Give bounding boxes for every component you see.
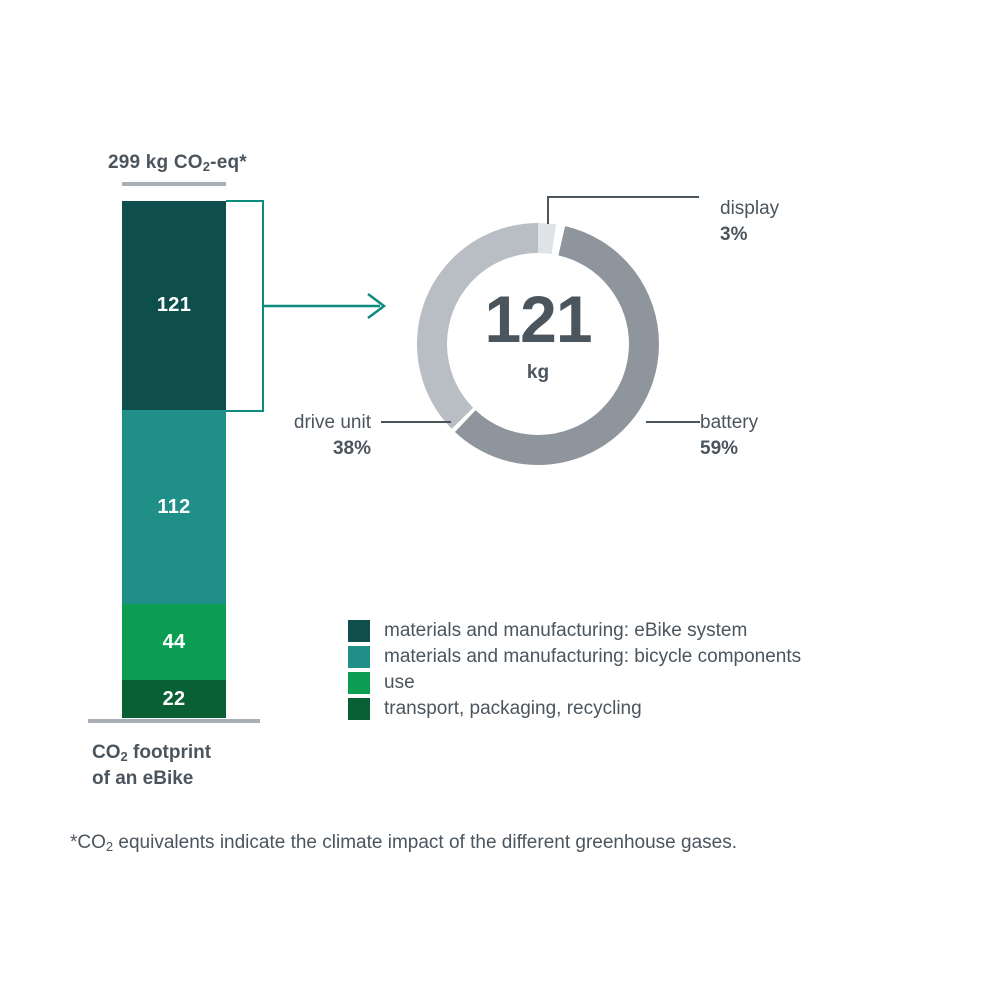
footnote: *CO2 equivalents indicate the climate im…	[70, 832, 737, 854]
bar-segment-value: 121	[157, 294, 191, 317]
callout-drive-unit: drive unit 38%	[150, 410, 371, 462]
bar-caption-line2: of an eBike	[92, 768, 193, 789]
footnote-subscript: 2	[106, 839, 113, 854]
callout-battery: battery 59%	[700, 410, 758, 462]
bar-segment-value: 22	[163, 688, 186, 711]
callout-drive-unit-name: drive unit	[150, 410, 371, 436]
bar-segment-ebike-system: 121	[122, 201, 226, 410]
legend-swatch-icon	[348, 698, 370, 720]
bar-caption: CO2 footprint of an eBike	[92, 740, 211, 791]
legend-item-bicycle-components: materials and manufacturing: bicycle com…	[348, 644, 801, 670]
callout-leader-display-vertical	[547, 196, 549, 224]
footnote-prefix: *CO	[70, 832, 106, 853]
donut-center-value: 121	[412, 283, 664, 355]
bar-caption-suffix: footprint	[128, 742, 211, 763]
legend-item-ebike-system: materials and manufacturing: eBike syste…	[348, 618, 801, 644]
callout-leader-display-horizontal	[547, 196, 699, 198]
callout-drive-unit-percent: 38%	[150, 436, 371, 462]
legend-item-transport-packaging-recycling: transport, packaging, recycling	[348, 696, 801, 722]
legend: materials and manufacturing: eBike syste…	[348, 618, 801, 722]
callout-display-percent: 3%	[720, 222, 779, 248]
bar-total-subscript: 2	[203, 159, 210, 174]
bar-total-underline	[122, 182, 226, 186]
callout-battery-name: battery	[700, 410, 758, 436]
bar-baseline	[88, 719, 260, 723]
callout-battery-percent: 59%	[700, 436, 758, 462]
legend-item-use: use	[348, 670, 801, 696]
highlight-bracket	[226, 200, 264, 412]
legend-swatch-icon	[348, 620, 370, 642]
legend-item-label: materials and manufacturing: bicycle com…	[384, 646, 801, 668]
bar-segment-value: 44	[163, 631, 186, 654]
callout-display: display 3%	[720, 196, 779, 248]
infographic-canvas: 299 kg CO2-eq* 121 112 44 22 CO2 footpri…	[0, 0, 1000, 1000]
bar-total-suffix: -eq*	[210, 152, 247, 173]
footnote-suffix: equivalents indicate the climate impact …	[113, 832, 737, 853]
bar-caption-subscript: 2	[121, 749, 128, 764]
bar-total-prefix: 299 kg CO	[108, 152, 203, 173]
bar-caption-prefix: CO	[92, 742, 121, 763]
legend-swatch-icon	[348, 646, 370, 668]
callout-leader-drive-unit	[381, 421, 451, 423]
legend-item-label: materials and manufacturing: eBike syste…	[384, 620, 747, 642]
connector-arrow	[262, 288, 392, 324]
callout-display-name: display	[720, 196, 779, 222]
legend-item-label: transport, packaging, recycling	[384, 698, 642, 720]
callout-leader-battery	[646, 421, 700, 423]
bar-total-label: 299 kg CO2-eq*	[108, 152, 247, 174]
bar-segment-transport-packaging-recycling: 22	[122, 680, 226, 718]
bar-segment-value: 112	[157, 496, 190, 519]
legend-item-label: use	[384, 672, 415, 694]
donut-center-unit: kg	[412, 362, 664, 384]
bar-segment-use: 44	[122, 604, 226, 680]
legend-swatch-icon	[348, 672, 370, 694]
